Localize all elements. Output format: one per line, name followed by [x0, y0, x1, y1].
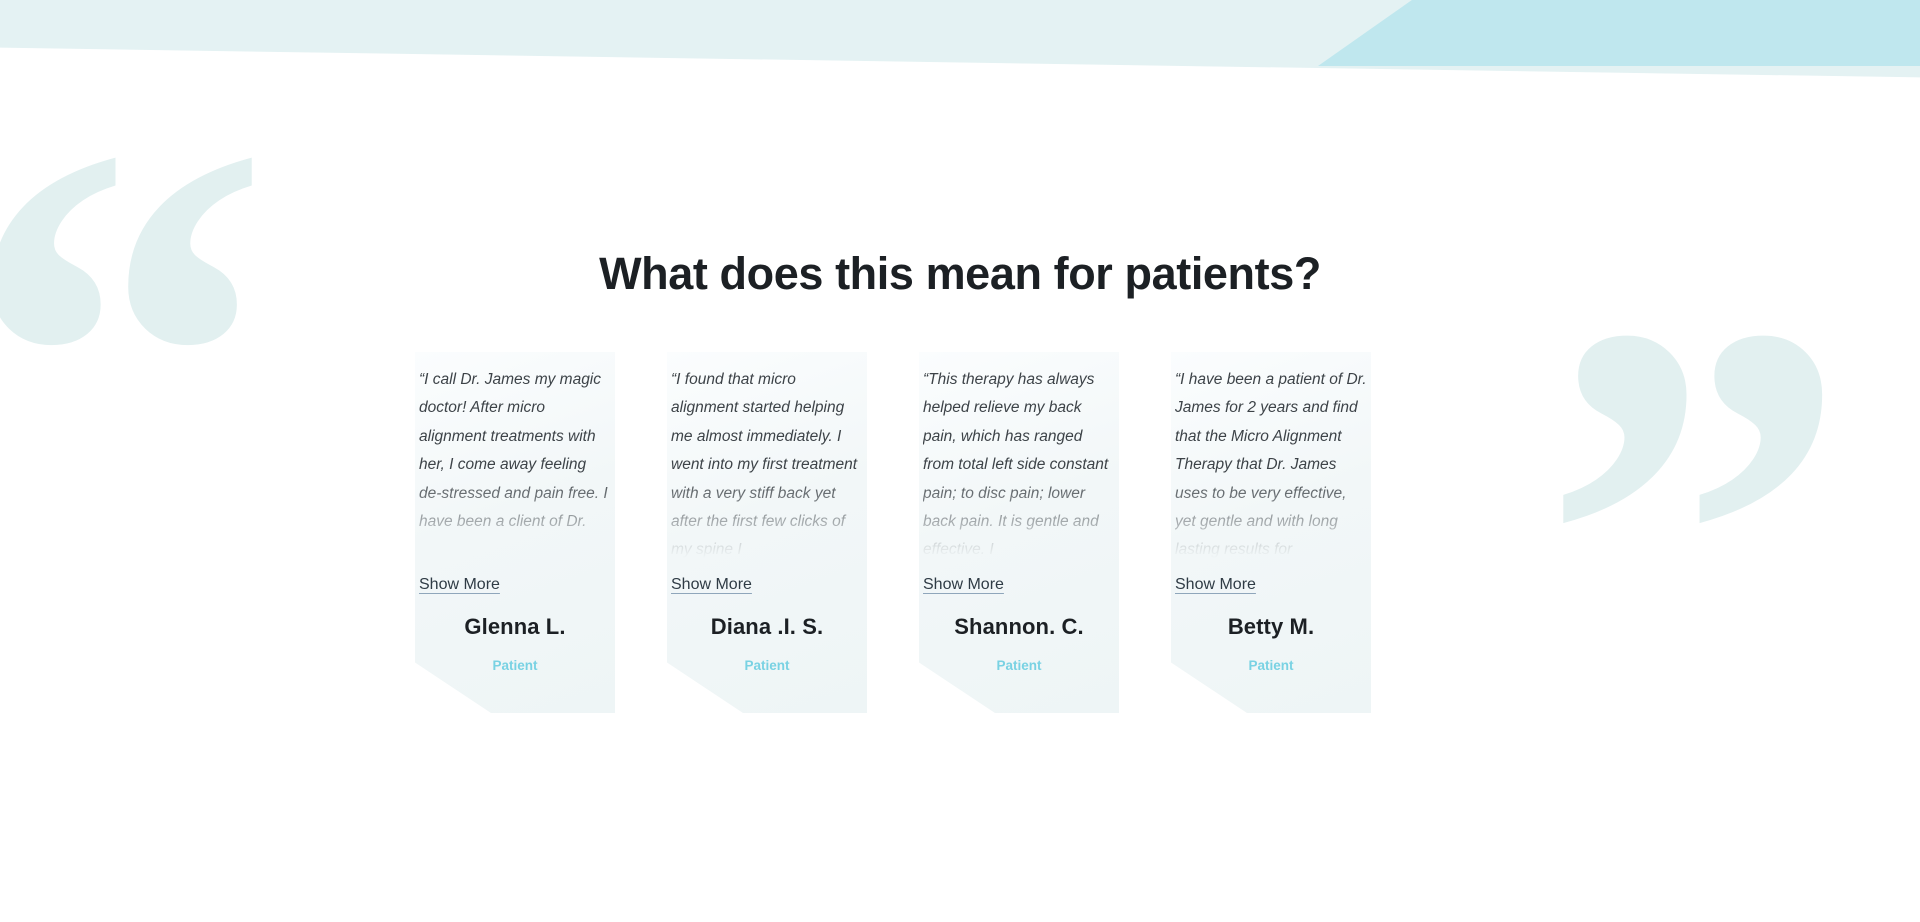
testimonial-quote: “I call Dr. James my magic doctor! After…	[419, 366, 611, 558]
testimonial-card: “I call Dr. James my magic doctor! After…	[415, 352, 615, 713]
testimonial-author-role: Patient	[1175, 658, 1367, 673]
testimonial-author-name: Glenna L.	[419, 614, 611, 640]
testimonial-quote: “This therapy has always helped relieve …	[923, 366, 1115, 558]
show-more-link[interactable]: Show More	[419, 576, 500, 594]
testimonial-quote: “I found that micro alignment started he…	[671, 366, 863, 558]
decorative-cyan-band	[1318, 0, 1920, 66]
section-heading: What does this mean for patients?	[0, 248, 1920, 300]
testimonial-card: “I found that micro alignment started he…	[667, 352, 867, 713]
testimonial-card: “This therapy has always helped relieve …	[919, 352, 1119, 713]
testimonial-author-name: Diana .I. S.	[671, 614, 863, 640]
testimonial-author-name: Shannon. C.	[923, 614, 1115, 640]
testimonial-author-role: Patient	[923, 658, 1115, 673]
show-more-link[interactable]: Show More	[923, 576, 1004, 594]
testimonial-card: “I have been a patient of Dr. James for …	[1171, 352, 1371, 713]
testimonials-page: “ ” What does this mean for patients? “I…	[0, 0, 1920, 922]
testimonial-list: “I call Dr. James my magic doctor! After…	[415, 352, 1515, 713]
testimonial-quote: “I have been a patient of Dr. James for …	[1175, 366, 1367, 558]
testimonial-author-role: Patient	[671, 658, 863, 673]
show-more-link[interactable]: Show More	[671, 576, 752, 594]
testimonial-author-name: Betty M.	[1175, 614, 1367, 640]
show-more-link[interactable]: Show More	[1175, 576, 1256, 594]
open-quote-icon: “	[0, 52, 272, 672]
close-quote-icon: ”	[1540, 230, 1850, 850]
testimonial-author-role: Patient	[419, 658, 611, 673]
